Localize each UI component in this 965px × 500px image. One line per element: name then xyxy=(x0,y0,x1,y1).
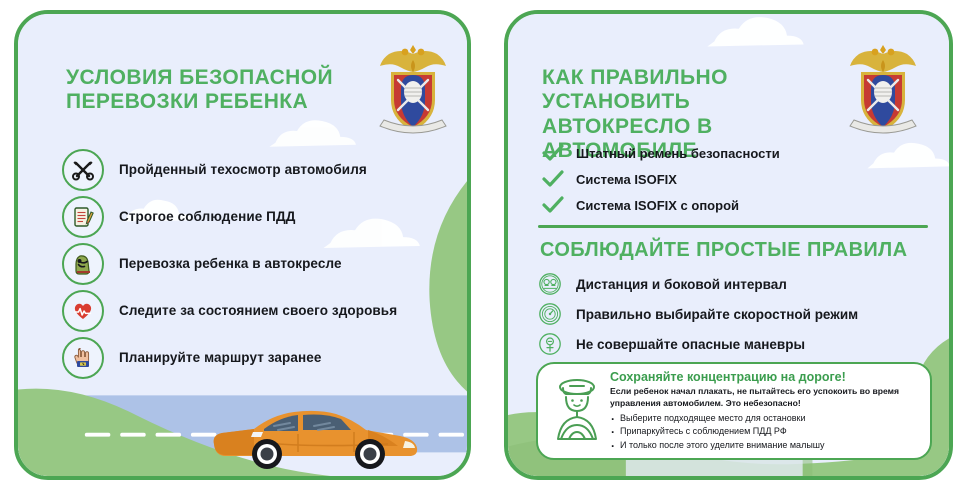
note-bullet: Припаркуйтесь с соблюдением ПДД РФ xyxy=(610,425,920,438)
note-bullet: Выберите подходящее место для остановки xyxy=(610,412,920,425)
list-item-label: Следите за состоянием своего здоровья xyxy=(119,303,397,318)
note-lead-text: Если ребенок начал плакать, не пытайтесь… xyxy=(610,386,920,409)
note-bullet: И только после этого уделите внимание ма… xyxy=(610,439,920,452)
list-item-label: Пройденный техосмотр автомобиля xyxy=(119,162,367,177)
list-item: Система ISOFIX с опорой xyxy=(540,192,920,218)
list-item-label: Перевозка ребенка в автокресле xyxy=(119,256,342,271)
list-item: Пройденный техосмотр автомобиля xyxy=(62,146,462,193)
list-item-label: Правильно выбирайте скоростной режим xyxy=(576,307,858,322)
installation-checklist: Штатный ремень безопасности Система ISOF… xyxy=(540,140,920,218)
note-title: Сохраняйте концентрацию на дороге! xyxy=(610,370,920,384)
hand-watch-icon xyxy=(62,337,104,379)
left-card-content: УСЛОВИЯ БЕЗОПАСНОЙ ПЕРЕВОЗКИ РЕБЕНКА xyxy=(18,14,467,476)
check-icon xyxy=(540,196,566,214)
check-icon xyxy=(540,144,566,162)
left-card-item-list: Пройденный техосмотр автомобиля xyxy=(62,146,462,381)
note-bullet-list: Выберите подходящее место для остановки … xyxy=(610,412,920,452)
list-item-label: Система ISOFIX с опорой xyxy=(576,198,739,213)
right-card-content: КАК ПРАВИЛЬНО УСТАНОВИТЬ АВТОКРЕСЛО В АВ… xyxy=(508,14,949,476)
list-item: Не совершайте опасные маневры xyxy=(538,329,938,359)
list-item: Правильно выбирайте скоростной режим xyxy=(538,299,938,329)
list-item-label: Система ISOFIX xyxy=(576,172,677,187)
list-item: Штатный ремень безопасности xyxy=(540,140,920,166)
list-item: Строгое соблюдение ПДД xyxy=(62,193,462,240)
infographic-root: УСЛОВИЯ БЕЗОПАСНОЙ ПЕРЕВОЗКИ РЕБЕНКА xyxy=(0,0,965,500)
orange-car-on-road-illustration xyxy=(208,396,423,472)
mvd-emblem-icon xyxy=(376,42,450,134)
list-item-label: Строгое соблюдение ПДД xyxy=(119,209,295,224)
heart-pulse-icon xyxy=(62,290,104,332)
note-text-block: Сохраняйте концентрацию на дороге! Если … xyxy=(610,370,930,452)
child-car-seat-icon xyxy=(62,243,104,285)
crossed-wrenches-icon xyxy=(62,149,104,191)
simple-rules-list: Дистанция и боковой интервал Правильно в… xyxy=(538,269,938,359)
list-item: Планируйте маршрут заранее xyxy=(62,334,462,381)
check-icon xyxy=(540,170,566,188)
list-item: Система ISOFIX xyxy=(540,166,920,192)
right-card-subtitle: СОБЛЮДАЙТЕ ПРОСТЫЕ ПРАВИЛА xyxy=(540,239,940,262)
distance-interval-icon xyxy=(538,272,562,296)
notepad-pencil-icon xyxy=(62,196,104,238)
right-info-card: КАК ПРАВИЛЬНО УСТАНОВИТЬ АВТОКРЕСЛО В АВ… xyxy=(504,10,953,480)
list-item: Дистанция и боковой интервал xyxy=(538,269,938,299)
list-item-label: Дистанция и боковой интервал xyxy=(576,277,787,292)
speedometer-icon xyxy=(538,302,562,326)
section-divider xyxy=(538,225,928,228)
left-info-card: УСЛОВИЯ БЕЗОПАСНОЙ ПЕРЕВОЗКИ РЕБЕНКА xyxy=(14,10,471,480)
concentration-note-box: Сохраняйте концентрацию на дороге! Если … xyxy=(536,362,932,460)
list-item: Перевозка ребенка в автокресле xyxy=(62,240,462,287)
list-item-label: Не совершайте опасные маневры xyxy=(576,337,805,352)
left-card-title: УСЛОВИЯ БЕЗОПАСНОЙ ПЕРЕВОЗКИ РЕБЕНКА xyxy=(66,66,356,115)
police-officer-icon xyxy=(544,375,610,447)
no-dangerous-maneuver-icon xyxy=(538,332,562,356)
mvd-emblem-icon xyxy=(846,42,920,134)
list-item-label: Планируйте маршрут заранее xyxy=(119,350,321,365)
list-item: Следите за состоянием своего здоровья xyxy=(62,287,462,334)
list-item-label: Штатный ремень безопасности xyxy=(576,146,780,161)
